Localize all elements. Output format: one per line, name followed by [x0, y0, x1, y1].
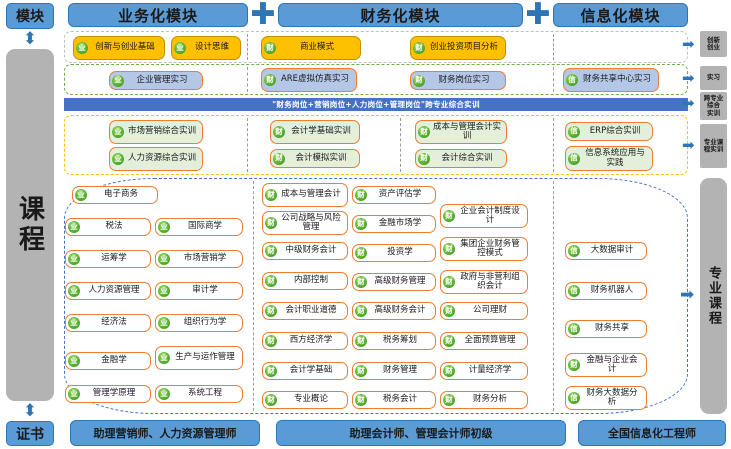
course-chip[interactable]: 财 全面预算管理 [440, 332, 528, 350]
header-business-label: 业务化模块 [118, 5, 198, 26]
badge-finance-icon: 财 [443, 365, 455, 377]
course-chip[interactable]: 业 管理学原理 [65, 385, 151, 403]
badge-finance-icon: 财 [355, 218, 367, 230]
course-chip[interactable]: 财 企业会计制度设计 [440, 204, 528, 228]
badge-finance-icon: 财 [443, 276, 455, 288]
certificate-information-label: 全国信息化工程师 [608, 425, 696, 441]
chip-innovation-basis[interactable]: 业 创新与创业基础 [73, 36, 165, 60]
header-information-label: 信息化模块 [580, 5, 660, 26]
badge-information-icon: 信 [568, 392, 580, 404]
badge-finance-icon: 财 [355, 276, 367, 288]
course-chip[interactable]: 财 公司战略与风险管理 [262, 211, 348, 235]
badge-finance-icon: 财 [418, 153, 430, 165]
badge-business-icon: 业 [158, 253, 170, 265]
course-chip[interactable]: 财 金融与企业会计 [565, 353, 647, 377]
chip-accounting-comprehensive-training[interactable]: 财 会计综合实训 [415, 149, 507, 168]
right-rail-cross-training: 跨专业 综合 实训 [700, 92, 727, 120]
badge-finance-icon: 财 [265, 365, 277, 377]
right-rail-internship: 实习 [700, 66, 727, 90]
badge-finance-icon: 财 [265, 275, 277, 287]
badge-business-icon: 业 [68, 317, 80, 329]
badge-finance-icon: 财 [413, 42, 425, 54]
plus-icon-2: ✚ [525, 3, 551, 27]
badge-business-icon: 业 [158, 221, 170, 233]
badge-business-icon: 业 [68, 285, 80, 297]
course-chip[interactable]: 财 公司理财 [440, 302, 528, 320]
badge-business-icon: 业 [76, 42, 88, 54]
course-chip[interactable]: 业 生产与运作管理 [155, 346, 243, 370]
course-chip[interactable]: 财 高级财务会计 [352, 302, 436, 320]
course-chip[interactable]: 财 金融市场学 [352, 215, 436, 233]
certificate-finance-label: 助理会计师、管理会计师初级 [350, 425, 493, 441]
chip-design-thinking[interactable]: 业 设计思维 [171, 36, 241, 60]
rail-course-text: 课程 [12, 195, 49, 255]
course-chip[interactable]: 财 专业概论 [262, 391, 348, 409]
badge-finance-icon: 财 [418, 126, 430, 138]
badge-finance-icon: 财 [355, 365, 367, 377]
band-innovation: 业 创新与创业基础 业 设计思维 财 商业模式 财 创业投资项目分析 [64, 31, 688, 63]
course-chip[interactable]: 业 国际商学 [155, 218, 243, 236]
course-chip[interactable]: 财 成本与管理会计 [262, 183, 348, 207]
badge-finance-icon: 财 [355, 394, 367, 406]
arrow-to-course-training: ➡ [682, 137, 700, 153]
course-chip[interactable]: 财 高级财务管理 [352, 273, 436, 291]
course-chip[interactable]: 业 经济法 [65, 314, 151, 332]
badge-finance-icon: 财 [265, 217, 277, 229]
certificate-business-label: 助理营销师、人力资源管理师 [94, 425, 237, 441]
course-chip[interactable]: 业 金融学 [65, 352, 151, 370]
badge-finance-icon: 财 [355, 335, 367, 347]
badge-finance-icon: 财 [273, 153, 285, 165]
badge-finance-icon: 财 [443, 305, 455, 317]
arrow-to-cross-training: ➡ [682, 95, 700, 111]
arrow-to-internship: ➡ [682, 70, 700, 86]
band2-sep-1 [247, 67, 248, 92]
right-rail-course-training: 专业课 程实训 [700, 124, 727, 168]
cross-module-banner-text: "财务岗位+营销岗位+人力岗位+管理岗位"跨专业综合实训 [272, 99, 480, 110]
course-chip[interactable]: 财 西方经济学 [262, 332, 348, 350]
right-rail-major-courses: 专业课程 [700, 178, 727, 414]
diagram-canvas: 模块 ⬍ 课程 ⬍ 证书 业务化模块 ✚ 财务化模块 ✚ 信息化模块 业 创新与… [0, 0, 731, 449]
chip-accounting-basis-training[interactable]: 财 会计学基础实训 [270, 120, 360, 144]
band-practical-training: 业 市场营销综合实训 业 人力资源综合实训 财 会计学基础实训 财 会计模拟实训… [64, 115, 688, 175]
badge-business-icon: 业 [158, 352, 170, 364]
chip-hr-comprehensive-training[interactable]: 业 人力资源综合实训 [109, 147, 203, 171]
badge-business-icon: 业 [68, 221, 80, 233]
band-internship: 业 企业管理实习 财 ARE虚拟仿真实习 财 财务岗位实习 信 财务共享中心实习 [64, 64, 688, 95]
chip-finance-post-internship[interactable]: 财 财务岗位实习 [410, 71, 506, 90]
badge-business-icon: 业 [174, 42, 186, 54]
course-chip[interactable]: 财 税务会计 [352, 391, 436, 409]
band3-sep-3 [553, 118, 554, 172]
plus-icon-1: ✚ [250, 3, 276, 27]
band2-sep-2 [553, 67, 554, 92]
badge-business-icon: 业 [112, 126, 124, 138]
badge-information-icon: 信 [568, 126, 580, 138]
chip-erp-comprehensive-training[interactable]: 信 ERP综合实训 [565, 122, 653, 141]
certificate-information[interactable]: 全国信息化工程师 [578, 420, 726, 446]
header-finance-label: 财务化模块 [360, 5, 440, 26]
badge-finance-icon: 财 [443, 335, 455, 347]
badge-information-icon: 信 [568, 153, 580, 165]
badge-finance-icon: 财 [264, 42, 276, 54]
course-chip[interactable]: 信 大数据审计 [565, 242, 647, 260]
course-chip[interactable]: 业 税法 [65, 218, 151, 236]
band1-sep-2 [553, 34, 554, 60]
badge-finance-icon: 财 [273, 126, 285, 138]
badge-information-icon: 信 [568, 245, 580, 257]
course-chip[interactable]: 财 内部控制 [262, 272, 348, 290]
course-chip[interactable]: 财 财务管理 [352, 362, 436, 380]
rail-module-label: 模块 [6, 3, 54, 29]
course-chip[interactable]: 信 财务共享 [565, 320, 647, 338]
band3-sep-2 [400, 118, 401, 172]
badge-finance-icon: 财 [413, 75, 425, 87]
course-chip[interactable]: 业 系统工程 [155, 385, 243, 403]
cross-module-banner: "财务岗位+营销岗位+人力岗位+管理岗位"跨专业综合实训 [64, 98, 688, 111]
course-chip[interactable]: 业 电子商务 [72, 186, 158, 204]
badge-finance-icon: 财 [265, 335, 277, 347]
course-chip[interactable]: 信 财务大数据分析 [565, 386, 647, 410]
header-information-module[interactable]: 信息化模块 [553, 3, 688, 27]
course-chip[interactable]: 财 会计职业道德 [262, 302, 348, 320]
arrow-module-to-course: ⬍ [6, 29, 54, 49]
course-chip[interactable]: 业 市场营销学 [155, 250, 243, 268]
badge-information-icon: 信 [568, 323, 580, 335]
course-chip[interactable]: 财 税务筹划 [352, 332, 436, 350]
badge-business-icon: 业 [112, 75, 124, 87]
badge-finance-icon: 财 [443, 394, 455, 406]
course-chip[interactable]: 财 中级财务会计 [262, 242, 348, 260]
chip-marketing-comprehensive-training[interactable]: 业 市场营销综合实训 [109, 120, 203, 144]
arrow-to-major-courses: ➡ [680, 286, 700, 304]
badge-business-icon: 业 [68, 253, 80, 265]
course-chip[interactable]: 财 会计学基础 [262, 362, 348, 380]
course-chip[interactable]: 财 计量经济学 [440, 362, 528, 380]
course-chip[interactable]: 业 运筹学 [65, 250, 151, 268]
rail-certificate-label: 证书 [6, 421, 54, 446]
badge-business-icon: 业 [75, 189, 87, 201]
course-chip[interactable]: 财 财务分析 [440, 391, 528, 409]
chip-are-virtual-simulation[interactable]: 财 ARE虚拟仿真实习 [261, 68, 357, 92]
badge-finance-icon: 财 [355, 189, 367, 201]
band4-sep-2 [553, 181, 554, 411]
badge-finance-icon: 财 [265, 305, 277, 317]
course-chip[interactable]: 业 人力资源管理 [65, 282, 151, 300]
band4-sep-1 [253, 181, 254, 411]
badge-business-icon: 业 [158, 317, 170, 329]
course-chip[interactable]: 财 政府与非营利组织会计 [440, 270, 528, 294]
chip-business-model[interactable]: 财 商业模式 [261, 36, 361, 60]
badge-finance-icon: 财 [568, 359, 580, 371]
badge-information-icon: 信 [566, 74, 578, 86]
badge-business-icon: 业 [68, 388, 80, 400]
right-rail-innovation: 创新 创业 [700, 31, 727, 57]
badge-finance-icon: 财 [355, 247, 367, 259]
header-business-module[interactable]: 业务化模块 [68, 3, 248, 27]
certificate-finance[interactable]: 助理会计师、管理会计师初级 [276, 420, 566, 446]
chip-cost-mgmt-accounting-training[interactable]: 财 成本与管理会计实训 [415, 120, 507, 144]
badge-finance-icon: 财 [443, 210, 455, 222]
badge-business-icon: 业 [158, 285, 170, 297]
certificate-business[interactable]: 助理营销师、人力资源管理师 [70, 420, 260, 446]
chip-venture-investment-analysis[interactable]: 财 创业投资项目分析 [410, 36, 506, 60]
rail-certificate-text: 证书 [16, 424, 44, 444]
band1-sep-1 [247, 34, 248, 60]
badge-finance-icon: 财 [443, 243, 455, 255]
chip-enterprise-mgmt-internship[interactable]: 业 企业管理实习 [109, 71, 203, 90]
badge-business-icon: 业 [68, 355, 80, 367]
rail-course-label: 课程 [6, 49, 54, 401]
course-chip[interactable]: 财 集团企业财务管控模式 [440, 237, 528, 261]
header-finance-module[interactable]: 财务化模块 [278, 3, 523, 27]
badge-finance-icon: 财 [265, 245, 277, 257]
band3-sep-1 [247, 118, 248, 172]
chip-info-system-application-practice[interactable]: 信 信息系统应用与实践 [565, 146, 653, 171]
course-chip[interactable]: 业 组织行为学 [155, 314, 243, 332]
course-chip[interactable]: 业 审计学 [155, 282, 243, 300]
badge-information-icon: 信 [568, 285, 580, 297]
badge-finance-icon: 财 [264, 74, 276, 86]
course-chip[interactable]: 信 财务机器人 [565, 282, 647, 300]
arrow-course-to-cert: ⬍ [6, 401, 54, 421]
chip-accounting-simulation-training[interactable]: 财 会计模拟实训 [270, 149, 360, 168]
badge-finance-icon: 财 [265, 189, 277, 201]
chip-finance-shared-center-internship[interactable]: 信 财务共享中心实习 [563, 68, 659, 92]
badge-finance-icon: 财 [265, 394, 277, 406]
badge-business-icon: 业 [112, 153, 124, 165]
course-chip[interactable]: 财 资产评估学 [352, 186, 436, 204]
rail-module-text: 模块 [16, 6, 44, 26]
arrow-to-innovation: ➡ [682, 36, 700, 52]
badge-finance-icon: 财 [355, 305, 367, 317]
course-chip[interactable]: 财 投资学 [352, 244, 436, 262]
badge-business-icon: 业 [158, 388, 170, 400]
